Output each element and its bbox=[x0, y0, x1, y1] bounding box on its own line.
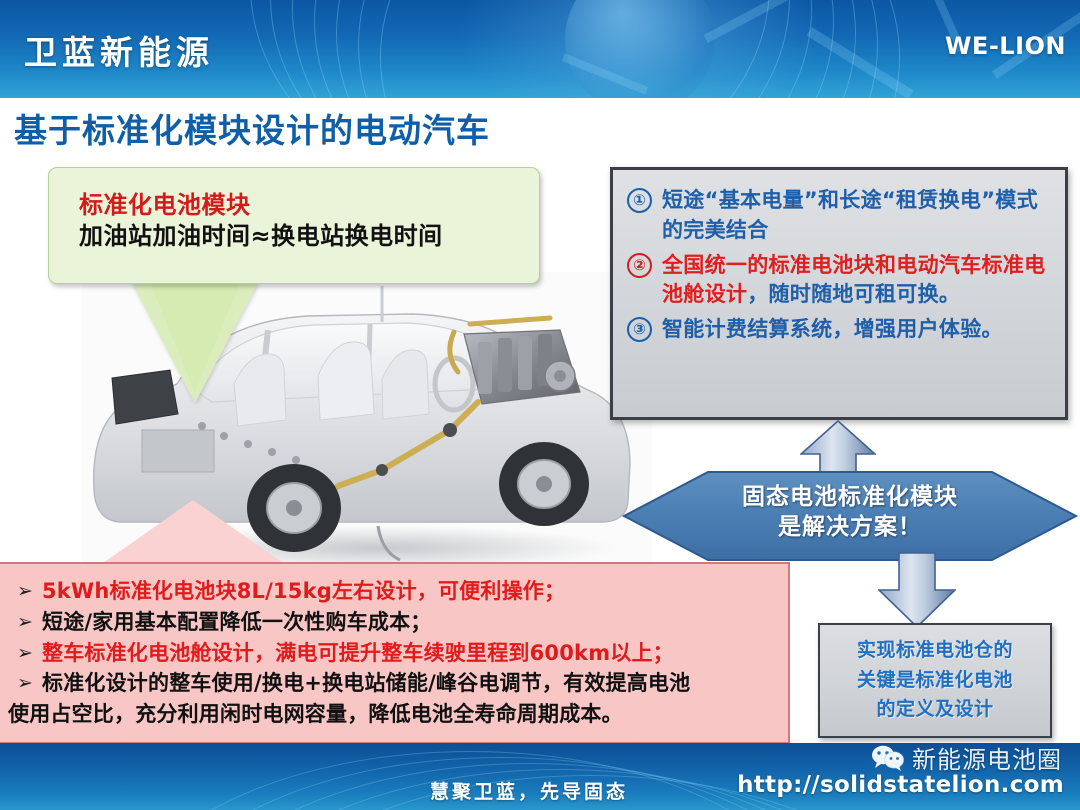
header-swoosh-3 bbox=[292, 0, 812, 98]
number-badge-3: ③ bbox=[627, 317, 652, 342]
brand-name-chinese: 卫蓝新能源 bbox=[24, 26, 214, 74]
header-bar-2 bbox=[806, 27, 913, 98]
numbered-item-2-blue-segment: ，随时随地可租可换。 bbox=[747, 282, 960, 306]
numbered-item-3-text: 智能计费结算系统，增强用户体验。 bbox=[662, 315, 1003, 345]
green-callout-heading: 标准化电池模块 bbox=[79, 190, 539, 221]
number-badge-1: ① bbox=[627, 188, 652, 213]
header-bar-1 bbox=[704, 0, 793, 43]
pink-box-tail bbox=[103, 500, 283, 563]
numbered-item-1: ① 短途“基本电量”和长途“租赁换电”模式的完美结合 bbox=[623, 186, 1055, 246]
solution-banner-line1: 固态电池标准化模块 bbox=[622, 482, 1078, 512]
car-cable-joint-2 bbox=[376, 464, 388, 476]
chevron-right-icon-2: ➢ bbox=[17, 610, 37, 635]
car-rear-module bbox=[142, 430, 214, 472]
bullet-item-3-text: 整车标准化电池舱设计，满电可提升整车续驶里程到600km以上； bbox=[42, 639, 674, 669]
green-callout-box: 标准化电池模块 加油站加油时间≈换电站换电时间 bbox=[48, 167, 540, 284]
numbered-points-box: ① 短途“基本电量”和长途“租赁换电”模式的完美结合 ② 全国统一的标准电池块和… bbox=[610, 167, 1068, 420]
bullet-item-4: ➢ 标准化设计的整车使用/换电+换电站储能/峰谷电调节，有效提高电池 bbox=[8, 669, 778, 699]
car-front-wheel bbox=[499, 442, 589, 526]
conclusion-box: 实现标准电池仓的 关键是标准化电池 的定义及设计 bbox=[818, 623, 1052, 738]
conclusion-line-1: 实现标准电池仓的 bbox=[857, 636, 1013, 665]
wechat-icon bbox=[871, 744, 905, 772]
wechat-watermark: 新能源电池圈 bbox=[871, 740, 1062, 775]
numbered-item-3: ③ 智能计费结算系统，增强用户体验。 bbox=[623, 315, 1055, 345]
footer-slogan: 慧聚卫蓝，先导固态 bbox=[430, 777, 628, 804]
number-badge-2: ② bbox=[627, 253, 652, 278]
footer-url: http://solidstatelion.com bbox=[737, 772, 1064, 798]
bullet-item-3: ➢ 整车标准化电池舱设计，满电可提升整车续驶里程到600km以上； bbox=[8, 639, 778, 669]
bullet-item-2-text: 短途/家用基本配置降低一次性购车成本； bbox=[42, 608, 431, 638]
slide-title: 基于标准化模块设计的电动汽车 bbox=[14, 104, 490, 152]
arrow-down-icon bbox=[878, 552, 956, 628]
numbered-item-2: ② 全国统一的标准电池块和电动汽车标准电池舱设计，随时随地可租可换。 bbox=[623, 251, 1055, 311]
bullet-item-4-text: 标准化设计的整车使用/换电+换电站储能/峰谷电调节，有效提高电池 bbox=[42, 669, 690, 699]
solution-banner-text: 固态电池标准化模块 是解决方案！ bbox=[622, 482, 1078, 543]
conclusion-line-2: 关键是标准化电池 bbox=[857, 666, 1013, 695]
key-points-box: ➢ 5kWh标准化电池块8L/15kg左右设计，可便利操作； ➢ 短途/家用基本… bbox=[0, 562, 790, 744]
green-callout-tail-inner bbox=[150, 283, 240, 393]
bullet-item-4-continuation: 使用占空比，充分利用闲时电网容量，降低电池全寿命周期成本。 bbox=[8, 700, 778, 730]
conclusion-line-3: 的定义及设计 bbox=[876, 695, 993, 724]
slide-canvas: 卫蓝新能源 WE-LION 基于标准化模块设计的电动汽车 bbox=[0, 0, 1080, 810]
green-callout-subtext: 加油站加油时间≈换电站换电时间 bbox=[79, 221, 539, 252]
bullet-item-1: ➢ 5kWh标准化电池块8L/15kg左右设计，可便利操作； bbox=[8, 577, 778, 607]
wechat-account-name: 新能源电池圈 bbox=[912, 740, 1062, 775]
chevron-right-icon-1: ➢ bbox=[17, 579, 37, 604]
bullet-item-2: ➢ 短途/家用基本配置降低一次性购车成本； bbox=[8, 608, 778, 638]
slide-header: 卫蓝新能源 WE-LION bbox=[0, 0, 1080, 98]
numbered-item-1-text: 短途“基本电量”和长途“租赁换电”模式的完美结合 bbox=[662, 186, 1055, 246]
numbered-item-2-text: 全国统一的标准电池块和电动汽车标准电池舱设计，随时随地可租可换。 bbox=[662, 251, 1055, 311]
brand-logo-welion: WE-LION bbox=[945, 32, 1066, 60]
solution-banner-line2: 是解决方案！ bbox=[622, 512, 1078, 542]
car-cable-joint-1 bbox=[443, 423, 457, 437]
chevron-right-icon-4: ➢ bbox=[17, 671, 37, 696]
bullet-item-1-text: 5kWh标准化电池块8L/15kg左右设计，可便利操作； bbox=[42, 577, 565, 607]
chevron-right-icon-3: ➢ bbox=[17, 641, 37, 666]
